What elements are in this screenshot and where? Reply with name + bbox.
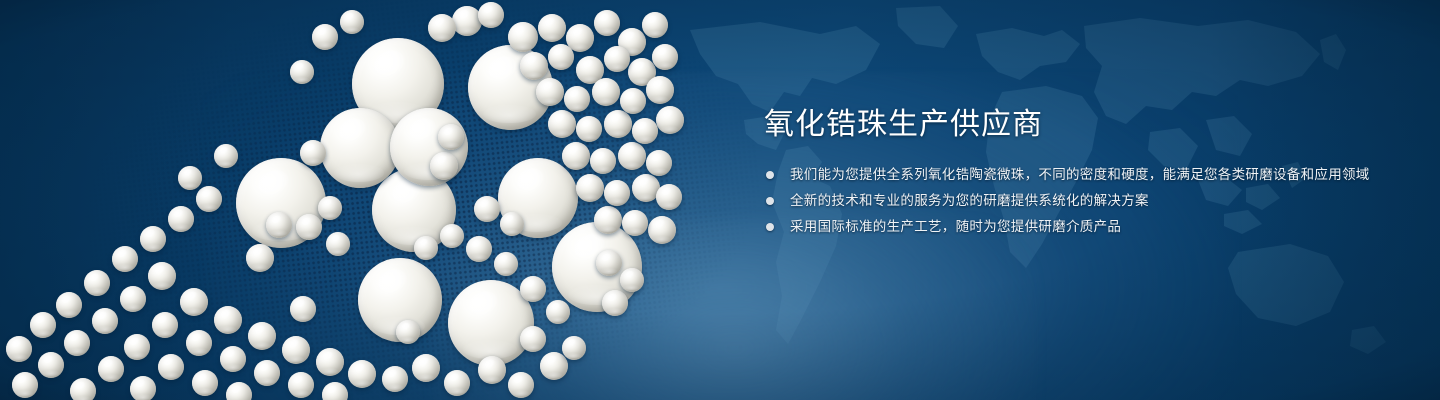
zirconia-bead — [656, 106, 684, 134]
zirconia-bead — [56, 292, 82, 318]
bullet-dot-icon — [766, 223, 774, 231]
zirconia-bead — [430, 152, 458, 180]
zirconia-bead — [296, 214, 322, 240]
zirconia-bead — [192, 370, 218, 396]
zirconia-bead — [646, 150, 672, 176]
zirconia-bead — [64, 330, 90, 356]
zirconia-bead — [548, 44, 574, 70]
zirconia-bead — [594, 10, 620, 36]
zirconia-bead — [648, 216, 676, 244]
zirconia-bead — [576, 116, 602, 142]
zirconia-bead — [538, 14, 566, 42]
zirconia-bead — [540, 352, 568, 380]
zirconia-bead — [500, 212, 524, 236]
zirconia-bead — [196, 186, 222, 212]
zirconia-bead — [318, 196, 342, 220]
zirconia-bead — [652, 44, 678, 70]
zirconia-bead — [396, 320, 420, 344]
zirconia-bead — [282, 336, 310, 364]
zirconia-bead — [254, 360, 280, 386]
zirconia-bead — [140, 226, 166, 252]
zirconia-bead — [340, 10, 364, 34]
zirconia-bead — [316, 348, 344, 376]
zirconia-bead — [124, 334, 150, 360]
zirconia-bead — [604, 180, 630, 206]
zirconia-bead — [12, 372, 38, 398]
zirconia-bead — [478, 356, 506, 384]
zirconia-bead — [320, 108, 400, 188]
zirconia-bead — [440, 224, 464, 248]
zirconia-bead — [508, 22, 538, 52]
zirconia-bead — [84, 270, 110, 296]
zirconia-bead — [466, 236, 492, 262]
zirconia-bead — [620, 268, 644, 292]
zirconia-bead — [168, 206, 194, 232]
bullet-dot-icon — [766, 197, 774, 205]
zirconia-bead — [632, 118, 658, 144]
zirconia-bead — [562, 336, 586, 360]
zirconia-bead — [620, 88, 646, 114]
zirconia-bead — [178, 166, 202, 190]
banner-bullet-list: 我们能为您提供全系列氧化锆陶瓷微珠，不同的密度和硬度，能满足您各类研磨设备和应用… — [764, 163, 1404, 238]
zirconia-bead — [38, 352, 64, 378]
zirconia-bead — [618, 142, 646, 170]
zirconia-bead — [474, 196, 500, 222]
zirconia-bead — [596, 250, 622, 276]
zirconia-bead — [148, 262, 176, 290]
zirconia-bead — [478, 2, 504, 28]
zirconia-bead — [112, 246, 138, 272]
bullet-item-3: 采用国际标准的生产工艺，随时为您提供研磨介质产品 — [764, 215, 1404, 238]
zirconia-bead — [248, 322, 276, 350]
zirconia-bead — [646, 76, 674, 104]
zirconia-bead — [602, 290, 628, 316]
zirconia-bead — [536, 78, 564, 106]
zirconia-bead — [158, 354, 184, 380]
zirconia-bead — [656, 184, 682, 210]
bullet-item-1: 我们能为您提供全系列氧化锆陶瓷微珠，不同的密度和硬度，能满足您各类研磨设备和应用… — [764, 163, 1404, 186]
zirconia-bead — [130, 376, 156, 400]
zirconia-bead — [594, 206, 622, 234]
banner-headline: 氧化锆珠生产供应商 — [764, 108, 1404, 141]
zirconia-bead — [152, 312, 178, 338]
zirconia-bead — [312, 24, 338, 50]
zirconia-bead — [300, 140, 326, 166]
zirconia-bead — [444, 370, 470, 396]
zirconia-bead — [290, 60, 314, 84]
zirconia-bead — [546, 300, 570, 324]
zirconia-bead — [604, 110, 632, 138]
zirconia-bead — [508, 372, 534, 398]
zirconia-bead — [520, 326, 546, 352]
hero-banner: 氧化锆珠生产供应商 我们能为您提供全系列氧化锆陶瓷微珠，不同的密度和硬度，能满足… — [0, 0, 1440, 400]
zirconia-bead — [428, 14, 456, 42]
zirconia-bead — [562, 142, 590, 170]
zirconia-bead — [414, 236, 438, 260]
bullet-item-2: 全新的技术和专业的服务为您的研磨提供系统化的解决方案 — [764, 189, 1404, 212]
zirconia-bead — [412, 354, 440, 382]
zirconia-bead — [590, 148, 616, 174]
bullet-dot-icon — [766, 171, 774, 179]
zirconia-bead — [92, 308, 118, 334]
banner-content: 氧化锆珠生产供应商 我们能为您提供全系列氧化锆陶瓷微珠，不同的密度和硬度，能满足… — [764, 108, 1404, 241]
zirconia-bead — [438, 124, 464, 150]
zirconia-bead — [70, 378, 96, 400]
zirconia-bead — [214, 306, 242, 334]
zirconia-bead — [348, 360, 376, 388]
zirconia-bead — [382, 366, 408, 392]
zirconia-bead — [520, 52, 548, 80]
zirconia-bead — [494, 252, 518, 276]
zirconia-bead — [220, 346, 246, 372]
zirconia-bead — [120, 286, 146, 312]
zirconia-bead — [98, 356, 124, 382]
zirconia-bead — [288, 372, 314, 398]
zirconia-bead — [246, 244, 274, 272]
bullet-text-1: 我们能为您提供全系列氧化锆陶瓷微珠，不同的密度和硬度，能满足您各类研磨设备和应用… — [790, 167, 1370, 182]
zirconia-bead — [622, 210, 648, 236]
zirconia-bead — [592, 78, 620, 106]
zirconia-bead — [520, 276, 546, 302]
bullet-text-3: 采用国际标准的生产工艺，随时为您提供研磨介质产品 — [790, 219, 1121, 234]
zirconia-bead — [266, 212, 292, 238]
bullet-text-2: 全新的技术和专业的服务为您的研磨提供系统化的解决方案 — [790, 193, 1149, 208]
zirconia-bead — [30, 312, 56, 338]
zirconia-bead — [548, 110, 576, 138]
zirconia-bead — [6, 336, 32, 362]
zirconia-bead — [214, 144, 238, 168]
zirconia-bead — [186, 330, 212, 356]
zirconia-bead — [290, 296, 316, 322]
zirconia-bead — [604, 46, 630, 72]
zirconia-bead — [564, 86, 590, 112]
zirconia-bead — [326, 232, 350, 256]
zirconia-bead — [576, 174, 604, 202]
zirconia-bead — [180, 288, 208, 316]
zirconia-bead — [642, 12, 668, 38]
